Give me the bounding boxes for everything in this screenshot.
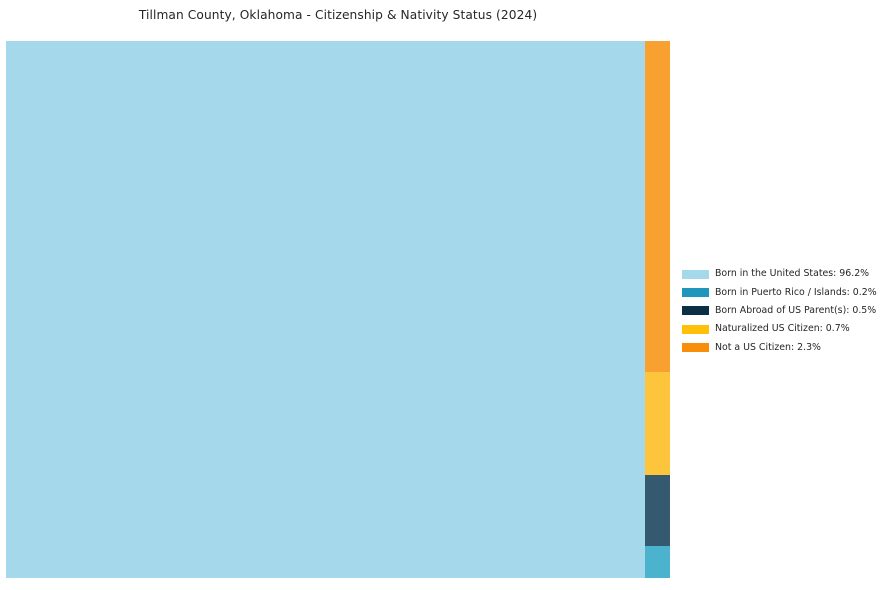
legend-color-swatch-icon [682, 325, 709, 334]
legend-item-label: Naturalized US Citizen: 0.7% [715, 324, 850, 333]
legend-item[interactable]: Born in Puerto Rico / Islands: 0.2% [682, 283, 882, 301]
treemap-tile[interactable] [645, 546, 670, 578]
legend-color-swatch-icon [682, 343, 709, 352]
legend-item[interactable]: Naturalized US Citizen: 0.7% [682, 320, 882, 338]
page-title: Tillman County, Oklahoma - Citizenship &… [0, 8, 676, 22]
legend-item[interactable]: Not a US Citizen: 2.3% [682, 338, 882, 356]
legend-item[interactable]: Born Abroad of US Parent(s): 0.5% [682, 302, 882, 320]
treemap-tile[interactable] [645, 41, 670, 372]
chart-figure: Tillman County, Oklahoma - Citizenship &… [0, 0, 889, 590]
treemap-tile[interactable] [645, 372, 670, 475]
legend-color-swatch-icon [682, 270, 709, 279]
legend-item-label: Not a US Citizen: 2.3% [715, 343, 821, 352]
legend-item-label: Born Abroad of US Parent(s): 0.5% [715, 306, 876, 315]
legend-color-swatch-icon [682, 306, 709, 315]
legend-color-swatch-icon [682, 288, 709, 297]
treemap-tile[interactable] [6, 41, 645, 578]
chart-legend: Born in the United States: 96.2%Born in … [682, 265, 882, 356]
legend-item[interactable]: Born in the United States: 96.2% [682, 265, 882, 283]
treemap-tile[interactable] [645, 475, 670, 546]
legend-item-label: Born in the United States: 96.2% [715, 269, 869, 278]
legend-item-label: Born in Puerto Rico / Islands: 0.2% [715, 288, 877, 297]
treemap-plot-area [6, 41, 670, 578]
